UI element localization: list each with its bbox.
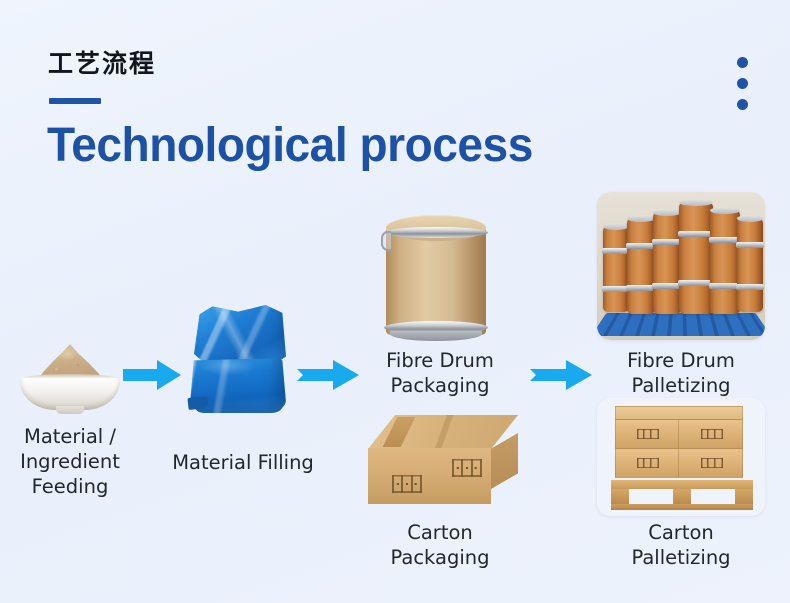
dot-3 (737, 99, 748, 110)
step-label-carton-packaging: Carton Packaging (355, 520, 525, 570)
pallet-deck (611, 480, 753, 489)
arrow-2 (297, 360, 359, 390)
drum-top (679, 199, 713, 206)
shipping-symbol-icon (701, 429, 723, 439)
bowl-foot (56, 406, 84, 414)
pallet-block (735, 489, 753, 504)
dot-2 (737, 78, 748, 89)
wooden-pallet (611, 480, 753, 510)
pallet-foot-board (611, 504, 753, 510)
arrow-1 (123, 360, 181, 390)
shipping-symbol-icon (701, 458, 723, 468)
drum-unit (710, 210, 740, 314)
pallet-block (673, 489, 691, 504)
step-label-fibre-drum-palletizing: Fibre Drum Palletizing (596, 348, 766, 398)
page-title: Technological process (47, 118, 533, 173)
shipping-symbol-icon (637, 429, 659, 439)
pallet-block (611, 489, 629, 504)
drum-unit (627, 218, 655, 314)
drum-unit (603, 226, 629, 312)
step-label-fibre-drum-packaging: Fibre Drum Packaging (355, 348, 525, 398)
drum-top (710, 207, 740, 214)
drum-top (627, 215, 655, 222)
drum-top (653, 209, 681, 216)
drum-body (386, 227, 486, 335)
shipping-symbol-right-icon (452, 459, 482, 477)
fibre-drum-icon (383, 213, 489, 345)
drum-unit (679, 202, 713, 314)
infographic-page: 工艺流程 Technological process Material / In… (0, 0, 790, 603)
drum-unit (737, 218, 763, 312)
drum-unit (653, 212, 681, 314)
step-label-material-filling: Material Filling (160, 450, 326, 475)
cartons-on-wood-pallet-photo (597, 398, 765, 516)
header-underline-rule (49, 98, 101, 104)
bowl-of-powder-icon (18, 344, 122, 416)
drum-top-ring (384, 227, 488, 238)
carton-top-face (615, 406, 743, 420)
dot-1 (737, 57, 748, 68)
carton-box-icon (368, 415, 518, 520)
step-label-carton-palletizing: Carton Palletizing (596, 520, 766, 570)
header-subtitle-chinese: 工艺流程 (48, 44, 156, 80)
drum-base (390, 331, 482, 341)
three-dots-vertical-icon[interactable] (737, 57, 748, 120)
drum-top (737, 215, 763, 222)
drum-top (603, 223, 629, 230)
drum-lever-clip (381, 231, 391, 251)
arrow-3 (530, 360, 592, 390)
drums-on-blue-pallet-photo (597, 192, 765, 340)
step-label-material-feeding: Material / Ingredient Feeding (4, 424, 136, 499)
shipping-symbol-left-icon (392, 475, 422, 493)
shipping-symbol-icon (637, 458, 659, 468)
blue-plastic-bag-icon (184, 305, 294, 418)
